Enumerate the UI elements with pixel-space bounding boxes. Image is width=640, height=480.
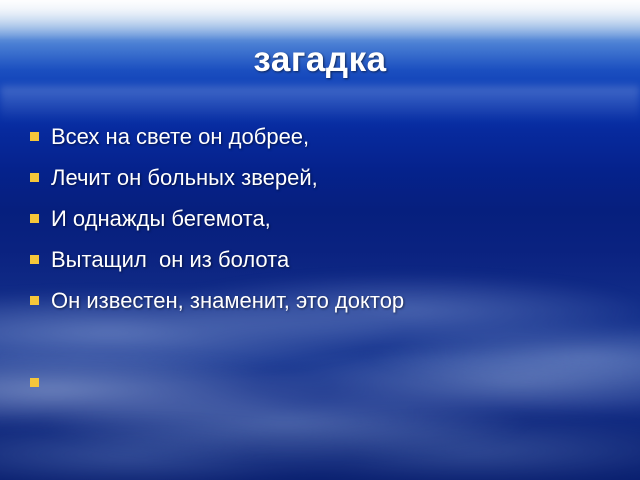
bullet-text: Всех на свете он добрее, (51, 120, 616, 154)
bullet-text: Он известен, знаменит, это доктор (51, 284, 616, 318)
background-horizon-glow (0, 86, 640, 122)
slide-bullet-list: Всех на свете он добрее, Лечит он больны… (26, 120, 616, 407)
slide-title: загадка (0, 40, 640, 80)
list-item: Лечит он больных зверей, (26, 161, 616, 199)
square-bullet-icon (30, 296, 39, 305)
list-item: Вытащил он из болота (26, 243, 616, 281)
bullet-text: Вытащил он из болота (51, 243, 616, 277)
bullet-text: И однажды бегемота, (51, 202, 616, 236)
square-bullet-icon (30, 173, 39, 182)
bullet-text: Лечит он больных зверей, (51, 161, 616, 195)
square-bullet-icon (30, 378, 39, 387)
square-bullet-icon (30, 132, 39, 141)
list-item: Он известен, знаменит, это доктор (26, 284, 616, 322)
background-water-haze-lower (0, 415, 640, 480)
list-item: Всех на свете он добрее, (26, 120, 616, 158)
background-cloud-band (0, 0, 640, 40)
list-item-empty (26, 366, 616, 404)
list-item: И однажды бегемота, (26, 202, 616, 240)
presentation-slide: загадка Всех на свете он добрее, Лечит о… (0, 0, 640, 480)
square-bullet-icon (30, 214, 39, 223)
square-bullet-icon (30, 255, 39, 264)
